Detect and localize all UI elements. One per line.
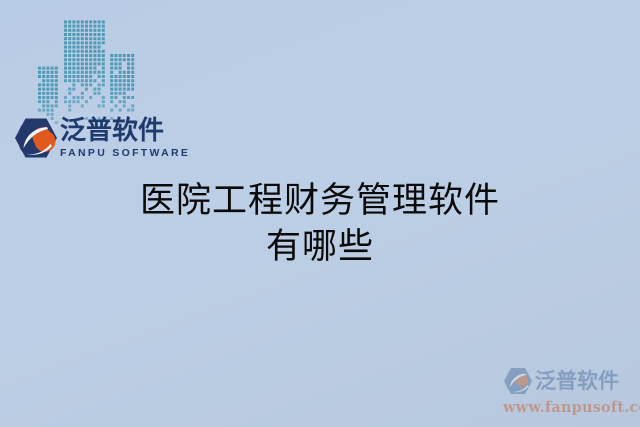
page-title-line-1: 医院工程财务管理软件 — [0, 178, 640, 224]
page-title-line-2: 有哪些 — [0, 224, 640, 270]
watermark-logo-row: 泛普软件 — [503, 366, 637, 396]
watermark-url: www.fanpusoft.com — [503, 399, 637, 416]
brand-logo: 泛普软件 FANPU SOFTWARE — [14, 117, 184, 167]
fanpu-hexagon-logo-icon — [503, 367, 533, 395]
promo-banner: 泛普软件 FANPU SOFTWARE 医院工程财务管理软件 有哪些 泛普软件 … — [0, 0, 640, 427]
brand-name-cn: 泛普软件 — [60, 118, 190, 144]
brand-name-en: FANPU SOFTWARE — [60, 148, 190, 159]
page-title: 医院工程财务管理软件 有哪些 — [0, 178, 640, 270]
watermark: 泛普软件 www.fanpusoft.com — [503, 366, 637, 422]
fanpu-hexagon-logo-icon — [14, 117, 58, 159]
watermark-brand-name: 泛普软件 — [535, 371, 619, 392]
brand-wordmark: 泛普软件 FANPU SOFTWARE — [60, 117, 190, 159]
pixel-city-skyline-icon — [38, 12, 150, 124]
